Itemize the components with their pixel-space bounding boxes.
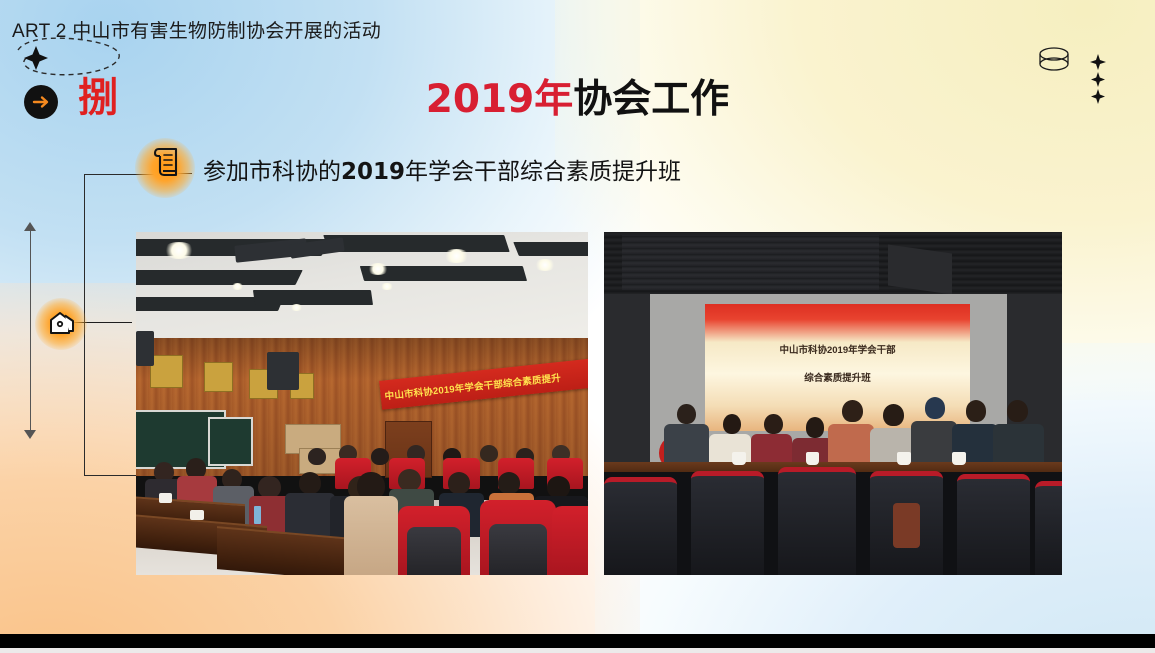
audience-head <box>258 476 281 498</box>
cylinder-icon <box>1037 46 1071 74</box>
person-head <box>1007 400 1028 422</box>
person-head <box>883 404 904 426</box>
sparkle-diamond-icon <box>1086 52 1110 106</box>
bottom-grey-strip <box>0 648 1155 653</box>
water-bottle <box>254 506 261 523</box>
blackboard <box>208 417 253 466</box>
dashed-swoosh-icon <box>8 34 138 82</box>
theater-seat-foreground <box>1035 481 1062 575</box>
subtitle-year: 2019 <box>341 159 405 185</box>
audience-head <box>480 445 498 462</box>
theater-seat-foreground <box>604 477 677 575</box>
ceiling-beam <box>513 242 588 256</box>
person-head <box>806 417 824 438</box>
ceiling-beam <box>323 235 509 252</box>
page-title-rest: 协会工作 <box>573 77 729 122</box>
tea-cup <box>732 452 746 466</box>
audience-head <box>398 469 421 491</box>
ceiling-beam <box>136 270 302 285</box>
conference-hall-photo: 中山市科协2019年学会干部综合素质提升 <box>136 232 588 575</box>
tea-cup <box>806 452 820 466</box>
bottom-black-bar <box>0 634 1155 648</box>
ceiling-light <box>367 263 390 275</box>
screen-line-1: 中山市科协2019年学会干部 <box>705 342 971 356</box>
subtitle-pre: 参加市科协的 <box>203 159 341 185</box>
slide-canvas: ART 2 中山市有害生物防制协会开展的活动 捌 2019年协会工作 <box>0 0 1155 653</box>
scroll-document-icon <box>152 146 180 178</box>
person-head <box>764 414 782 435</box>
theater-seat-foreground <box>778 467 856 575</box>
wall-medallion <box>204 362 233 391</box>
page-title-year: 2019年 <box>426 77 574 122</box>
wall-speaker <box>136 331 154 365</box>
wall-speaker <box>267 352 299 390</box>
tea-cup <box>159 493 173 503</box>
person-head <box>677 404 695 425</box>
tea-cup <box>897 452 911 466</box>
person-head <box>723 414 741 435</box>
audience-head <box>498 472 521 494</box>
section-subtitle: 参加市科协的2019年学会干部综合素质提升班 <box>203 152 681 186</box>
house-building-icon <box>46 310 76 336</box>
audience-head <box>547 476 570 498</box>
vertical-axis-arrow-down <box>24 430 36 439</box>
page-title: 2019年协会工作 <box>0 80 1155 119</box>
wall-medallion <box>150 355 184 388</box>
group-certificate-photo: 中山市科协2019年学会干部 综合素质提升班 2019年11月28日 <box>604 232 1062 575</box>
audience-head <box>448 472 471 494</box>
photo-right-ceiling-grille <box>622 235 878 290</box>
tea-cup <box>190 510 204 520</box>
subtitle-post: 年学会干部综合素质提升班 <box>405 159 681 185</box>
theater-seat-foreground <box>691 471 764 575</box>
screen-line-2: 综合素质提升班 <box>705 370 971 384</box>
person-head <box>966 400 987 422</box>
tea-cup <box>952 452 966 466</box>
audience-head <box>299 472 322 494</box>
theater-seat-cushion <box>489 524 548 575</box>
handbag <box>893 503 920 548</box>
standing-person-body <box>344 496 398 575</box>
person-head <box>842 400 863 422</box>
theater-seat-foreground <box>552 506 588 575</box>
person-head-with-cap <box>925 397 946 419</box>
vertical-axis-line <box>30 228 31 436</box>
ceiling-beam <box>252 290 372 305</box>
theater-seat-foreground <box>957 474 1030 575</box>
audience-head <box>308 448 326 465</box>
vertical-axis-arrow-up <box>24 222 36 231</box>
ceiling-light <box>443 249 470 263</box>
ceiling-light <box>290 304 304 311</box>
theater-seat-cushion <box>407 527 461 575</box>
audience-head <box>371 448 389 465</box>
